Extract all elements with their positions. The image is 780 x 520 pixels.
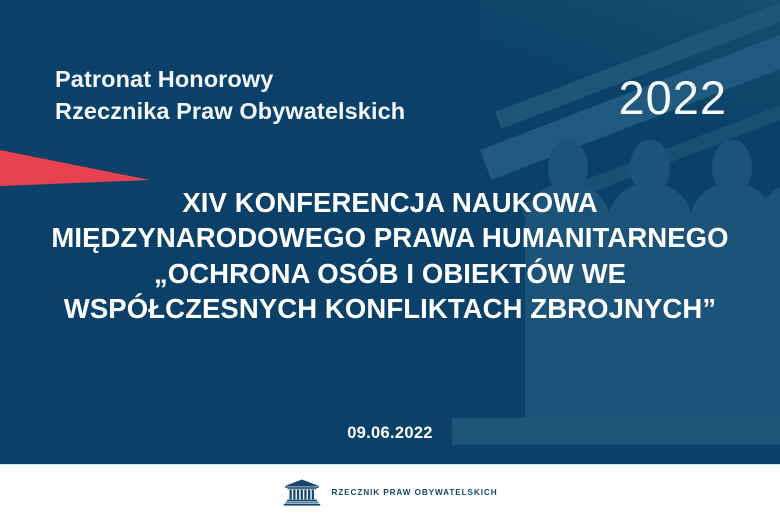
patronage-text: Patronat Honorowy Rzecznika Praw Obywate… <box>55 63 405 128</box>
rpo-logo: RZECZNIK PRAW OBYWATELSKICH <box>282 478 497 508</box>
year-label: 2022 <box>618 74 727 121</box>
logo-text: RZECZNIK PRAW OBYWATELSKICH <box>331 488 497 497</box>
poster-footer: RZECZNIK PRAW OBYWATELSKICH <box>0 465 780 520</box>
conference-poster: Patronat Honorowy Rzecznika Praw Obywate… <box>0 0 780 520</box>
red-triangle-accent-icon <box>0 150 150 186</box>
classical-building-icon <box>282 478 322 508</box>
event-date: 09.06.2022 <box>0 424 780 443</box>
page-title: XIV KONFERENCJA NAUKOWA MIĘDZYNARODOWEGO… <box>0 185 780 327</box>
poster-canvas: Patronat Honorowy Rzecznika Praw Obywate… <box>0 0 780 465</box>
